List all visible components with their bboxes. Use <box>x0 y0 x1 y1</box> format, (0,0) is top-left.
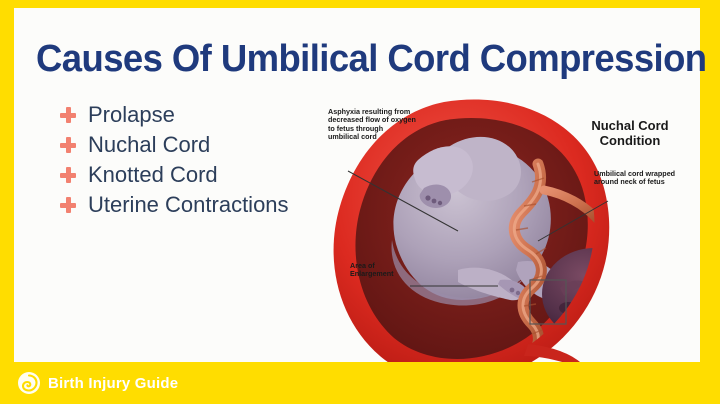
birth-injury-guide-logo-icon <box>18 372 40 394</box>
footer-bar: Birth Injury Guide <box>0 362 720 404</box>
asphyxia-label: Asphyxia resulting from decreased flow o… <box>328 108 416 142</box>
content-canvas: Causes Of Umbilical Cord Compression Pro… <box>14 8 700 362</box>
poster-frame: Causes Of Umbilical Cord Compression Pro… <box>0 0 720 404</box>
nuchal-cord-condition-heading: Nuchal Cord Condition <box>578 118 682 149</box>
annotation-leader-lines <box>28 16 714 370</box>
area-of-enlargement-label: Area of Enlargement <box>350 262 420 279</box>
brand-name: Birth Injury Guide <box>48 375 178 392</box>
umbilical-cord-wrapped-label: Umbilical cord wrapped around neck of fe… <box>594 170 678 187</box>
